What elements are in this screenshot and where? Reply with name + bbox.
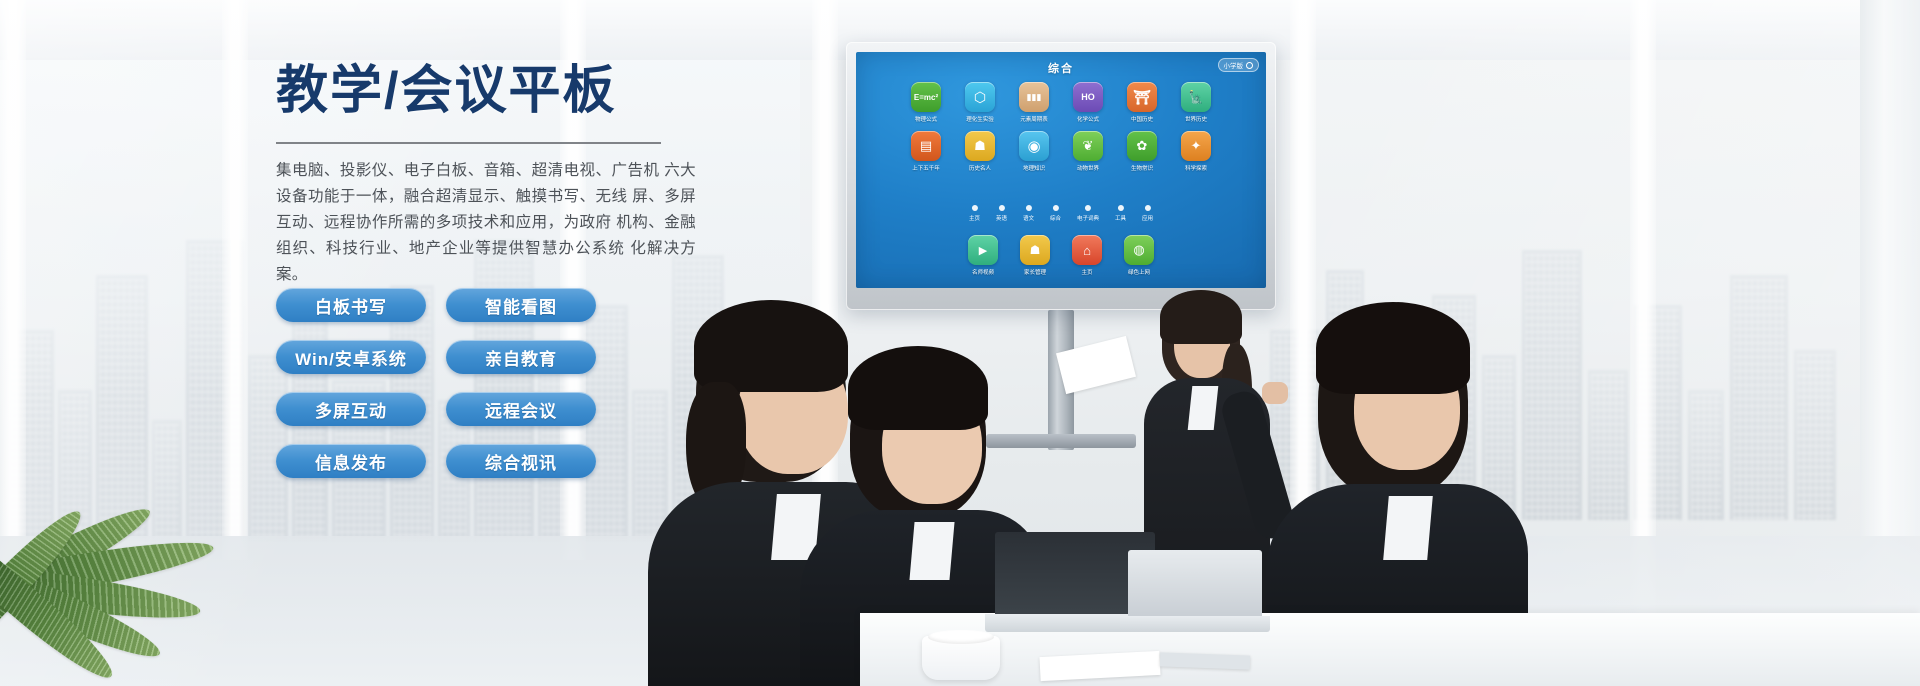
subject-tab-chinese[interactable]: 语文 bbox=[1023, 205, 1034, 222]
geography-icon: ◉ bbox=[1019, 131, 1049, 161]
app-label: 生物常识 bbox=[1131, 164, 1153, 172]
five-thousand-years-icon: ▤ bbox=[911, 131, 941, 161]
chinese-history-icon: ⛩ bbox=[1127, 82, 1157, 112]
app-tile[interactable]: ❦ 动物世界 bbox=[1066, 131, 1110, 172]
button-info-publishing[interactable]: 信息发布 bbox=[276, 444, 426, 478]
hero-copy: 教学/会议平板 集电脑、投影仪、电子白板、音箱、超清电视、广告机 六大设备功能于… bbox=[276, 62, 696, 288]
app-tile[interactable]: ☗ 历史名人 bbox=[958, 131, 1002, 172]
biology-icon: ✿ bbox=[1127, 131, 1157, 161]
subject-tab-tools[interactable]: 工具 bbox=[1115, 205, 1126, 222]
app-label: 中国历史 bbox=[1131, 115, 1153, 123]
bottom-app-row[interactable]: ▶ 名师视频 ☗ 家长管理 ⌂ 主页 ◍ 绿色上网 bbox=[961, 235, 1161, 276]
hero-description: 集电脑、投影仪、电子白板、音箱、超清电视、广告机 六大设备功能于一体，融合超清显… bbox=[276, 158, 696, 288]
interactive-flat-panel[interactable]: 综合 小学版 E=mc² 物理公式 ⬡ 理化生实验 ▮▮▮ bbox=[846, 42, 1276, 310]
periodic-table-icon: ▮▮▮ bbox=[1019, 82, 1049, 112]
app-tile[interactable]: ⌂ 主页 bbox=[1065, 235, 1109, 276]
bullet-icon bbox=[1025, 205, 1031, 211]
button-multiscreen[interactable]: 多屏互动 bbox=[276, 392, 426, 426]
hero-banner: 综合 小学版 E=mc² 物理公式 ⬡ 理化生实验 ▮▮▮ bbox=[0, 0, 1920, 686]
world-history-icon: 🗽 bbox=[1181, 82, 1211, 112]
app-tile[interactable]: ⬡ 理化生实验 bbox=[958, 82, 1002, 123]
parent-control-icon: ☗ bbox=[1020, 235, 1050, 265]
app-label: 上下五千年 bbox=[912, 164, 940, 172]
app-tile[interactable]: ▮▮▮ 元素周期表 bbox=[1012, 82, 1056, 123]
subject-tabbar[interactable]: 主页 英语 语文 综合 bbox=[969, 205, 1153, 222]
subject-label: 英语 bbox=[996, 214, 1007, 222]
app-label: 名师视频 bbox=[972, 268, 994, 276]
app-tile[interactable]: 🗽 世界历史 bbox=[1174, 82, 1218, 123]
power-dot-icon bbox=[1246, 62, 1253, 69]
button-win-android-system[interactable]: Win/安卓系统 bbox=[276, 340, 426, 374]
app-label: 科学探索 bbox=[1185, 164, 1207, 172]
animal-world-icon: ❦ bbox=[1073, 131, 1103, 161]
screen-title: 综合 bbox=[856, 60, 1266, 76]
subject-label: 语文 bbox=[1023, 214, 1034, 222]
app-label: 历史名人 bbox=[969, 164, 991, 172]
app-tile[interactable]: ◉ 地理知识 bbox=[1012, 131, 1056, 172]
panel-bezel: 综合 小学版 E=mc² 物理公式 ⬡ 理化生实验 ▮▮▮ bbox=[846, 42, 1276, 310]
app-tile[interactable]: ☗ 家长管理 bbox=[1013, 235, 1057, 276]
app-tile[interactable]: ✦ 科学探索 bbox=[1174, 131, 1218, 172]
palm-plant bbox=[0, 446, 300, 686]
app-tile[interactable]: ▶ 名师视频 bbox=[961, 235, 1005, 276]
subject-label: 主页 bbox=[969, 214, 980, 222]
button-smart-image-view[interactable]: 智能看图 bbox=[446, 288, 596, 322]
subject-tab-apps[interactable]: 应用 bbox=[1142, 205, 1153, 222]
historical-figures-icon: ☗ bbox=[965, 131, 995, 161]
edition-badge-label: 小学版 bbox=[1224, 60, 1244, 70]
bullet-icon bbox=[1145, 205, 1151, 211]
app-grid[interactable]: E=mc² 物理公式 ⬡ 理化生实验 ▮▮▮ 元素周期表 HO 化学公式 bbox=[904, 82, 1218, 172]
interior-column bbox=[1860, 0, 1920, 620]
subject-tab-home[interactable]: 主页 bbox=[969, 205, 980, 222]
subject-tab-dictionary[interactable]: 电子词典 bbox=[1077, 205, 1099, 222]
science-lab-icon: ⬡ bbox=[965, 82, 995, 112]
subject-tab-english[interactable]: 英语 bbox=[996, 205, 1007, 222]
app-label: 绿色上网 bbox=[1128, 268, 1150, 276]
app-label: 理化生实验 bbox=[966, 115, 994, 123]
app-tile[interactable]: ◍ 绿色上网 bbox=[1117, 235, 1161, 276]
app-tile[interactable]: HO 化学公式 bbox=[1066, 82, 1110, 123]
app-label: 地理知识 bbox=[1023, 164, 1045, 172]
subject-label: 工具 bbox=[1115, 214, 1126, 222]
physics-formula-icon: E=mc² bbox=[911, 82, 941, 112]
bullet-icon bbox=[1085, 205, 1091, 211]
app-tile[interactable]: ▤ 上下五千年 bbox=[904, 131, 948, 172]
page-title: 教学/会议平板 bbox=[276, 62, 696, 120]
button-comprehensive-av[interactable]: 综合视讯 bbox=[446, 444, 596, 478]
subject-label: 应用 bbox=[1142, 214, 1153, 222]
window-mullion bbox=[1630, 0, 1656, 620]
title-divider bbox=[276, 142, 661, 144]
chemistry-formula-icon: HO bbox=[1073, 82, 1103, 112]
panel-screen[interactable]: 综合 小学版 E=mc² 物理公式 ⬡ 理化生实验 ▮▮▮ bbox=[856, 52, 1266, 288]
button-whiteboard-writing[interactable]: 白板书写 bbox=[276, 288, 426, 322]
coffee-cup bbox=[922, 636, 1000, 680]
bullet-icon bbox=[998, 205, 1004, 211]
bullet-icon bbox=[971, 205, 977, 211]
subject-label: 电子词典 bbox=[1077, 214, 1099, 222]
app-label: 动物世界 bbox=[1077, 164, 1099, 172]
home-icon: ⌂ bbox=[1072, 235, 1102, 265]
safe-browsing-icon: ◍ bbox=[1124, 235, 1154, 265]
teacher-video-icon: ▶ bbox=[968, 235, 998, 265]
feature-button-grid[interactable]: 白板书写 智能看图 Win/安卓系统 亲自教育 多屏互动 远程会议 信息发布 综… bbox=[276, 288, 596, 478]
app-tile[interactable]: ⛩ 中国历史 bbox=[1120, 82, 1164, 123]
app-label: 世界历史 bbox=[1185, 115, 1207, 123]
bullet-icon bbox=[1052, 205, 1058, 211]
app-label: 主页 bbox=[1081, 268, 1092, 276]
app-tile[interactable]: ✿ 生物常识 bbox=[1120, 131, 1164, 172]
laptop[interactable] bbox=[1120, 552, 1270, 632]
bullet-icon bbox=[1118, 205, 1124, 211]
subject-tab-comprehensive[interactable]: 综合 bbox=[1050, 205, 1061, 222]
science-explore-icon: ✦ bbox=[1181, 131, 1211, 161]
app-tile[interactable]: E=mc² 物理公式 bbox=[904, 82, 948, 123]
app-label: 化学公式 bbox=[1077, 115, 1099, 123]
app-label: 元素周期表 bbox=[1020, 115, 1048, 123]
edition-badge[interactable]: 小学版 bbox=[1218, 58, 1260, 72]
app-label: 家长管理 bbox=[1024, 268, 1046, 276]
button-remote-meeting[interactable]: 远程会议 bbox=[446, 392, 596, 426]
subject-label: 综合 bbox=[1050, 214, 1061, 222]
app-label: 物理公式 bbox=[915, 115, 937, 123]
button-parent-education[interactable]: 亲自教育 bbox=[446, 340, 596, 374]
